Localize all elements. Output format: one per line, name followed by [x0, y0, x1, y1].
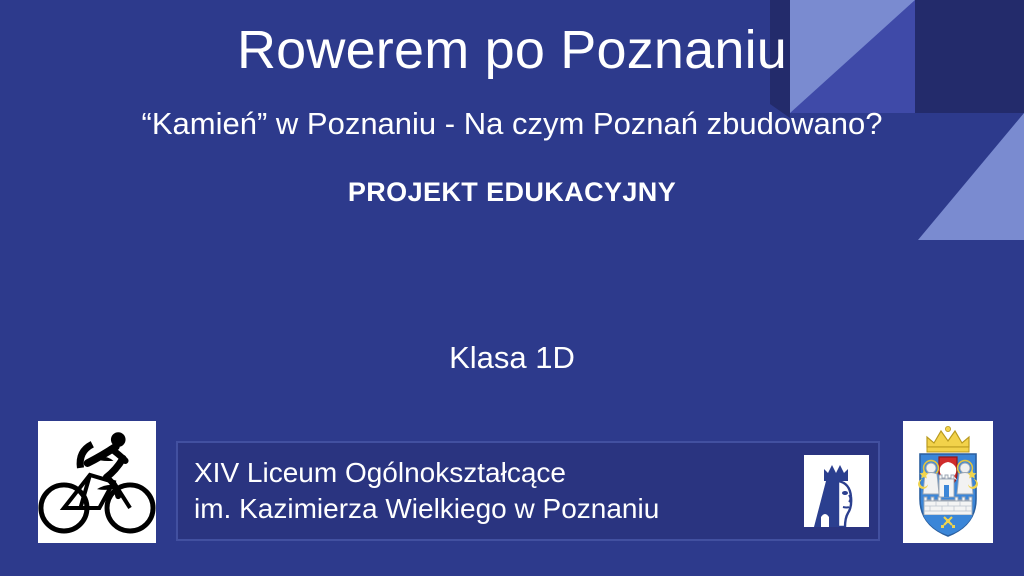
project-label: PROJEKT EDUKACYJNY	[0, 177, 1024, 208]
page-title: Rowerem po Poznaniu	[0, 22, 1024, 79]
school-name-box: XIV Liceum Ogólnokształcące im. Kazimier…	[176, 441, 880, 541]
school-name-text: XIV Liceum Ogólnokształcące im. Kazimier…	[178, 455, 804, 527]
presentation-slide: Rowerem po Poznaniu “Kamień” w Poznaniu …	[0, 0, 1024, 576]
poznan-coat-of-arms-icon	[903, 421, 993, 543]
slide-subtitle: “Kamień” w Poznaniu - Na czym Poznań zbu…	[0, 107, 1024, 141]
cyclist-logo	[38, 421, 156, 543]
class-label: Klasa 1D	[0, 340, 1024, 376]
crowned-king-head-icon	[804, 455, 869, 527]
